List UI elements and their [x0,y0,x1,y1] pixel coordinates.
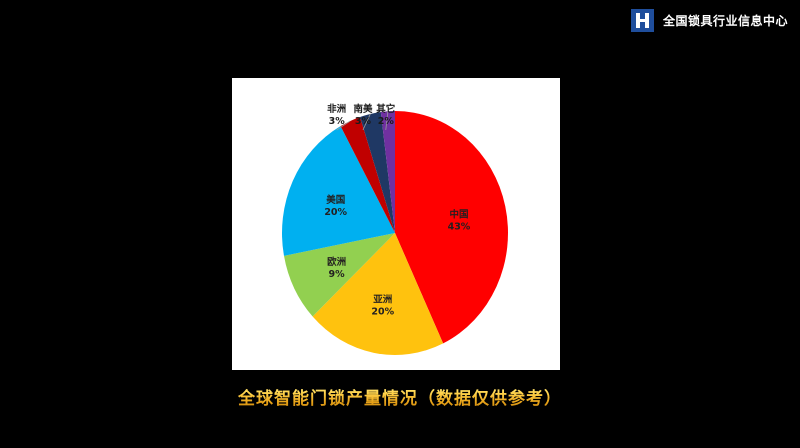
chart-caption: 全球智能门锁产量情况（数据仅供参考） [0,384,800,409]
pie-slice-label: 欧洲9% [327,256,346,280]
slice-label-value: 3% [329,116,346,127]
pie-slice-label: 非洲3% [327,103,346,127]
slice-label-name: 美国 [325,194,345,206]
slice-label-name: 中国 [449,209,468,221]
chart-panel: 中国43%亚洲20%欧洲9%美国20%非洲3%南美3%其它2% [232,78,560,370]
slice-label-value: 20% [324,207,347,218]
pie-chart-svg: 中国43%亚洲20%欧洲9%美国20%非洲3%南美3%其它2% [232,78,560,370]
slice-label-value: 9% [329,269,346,280]
brand-name: 全国锁具行业信息中心 [663,12,788,29]
pie-slice-label: 美国20% [324,194,347,218]
slice-label-name: 南美 [353,103,373,115]
brand: 全国锁具行业信息中心 [631,9,788,32]
slice-label-name: 欧洲 [327,256,346,268]
slice-label-value: 20% [371,307,394,318]
pie-chart: 中国43%亚洲20%欧洲9%美国20%非洲3%南美3%其它2% [232,78,560,370]
slice-label-value: 3% [355,116,372,127]
slice-label-name: 非洲 [327,103,346,115]
h-monogram-logo-icon [631,9,654,32]
slice-label-name: 亚洲 [373,295,392,306]
header-bar: 全国锁具行业信息中心 [0,0,800,40]
pie-slice-label: 中国43% [448,209,471,233]
slice-label-value: 2% [378,116,395,127]
pie-slice-group [282,111,508,355]
pie-slice-label: 亚洲20% [371,295,394,318]
slice-label-name: 其它 [376,103,395,115]
slice-label-value: 43% [448,222,471,233]
